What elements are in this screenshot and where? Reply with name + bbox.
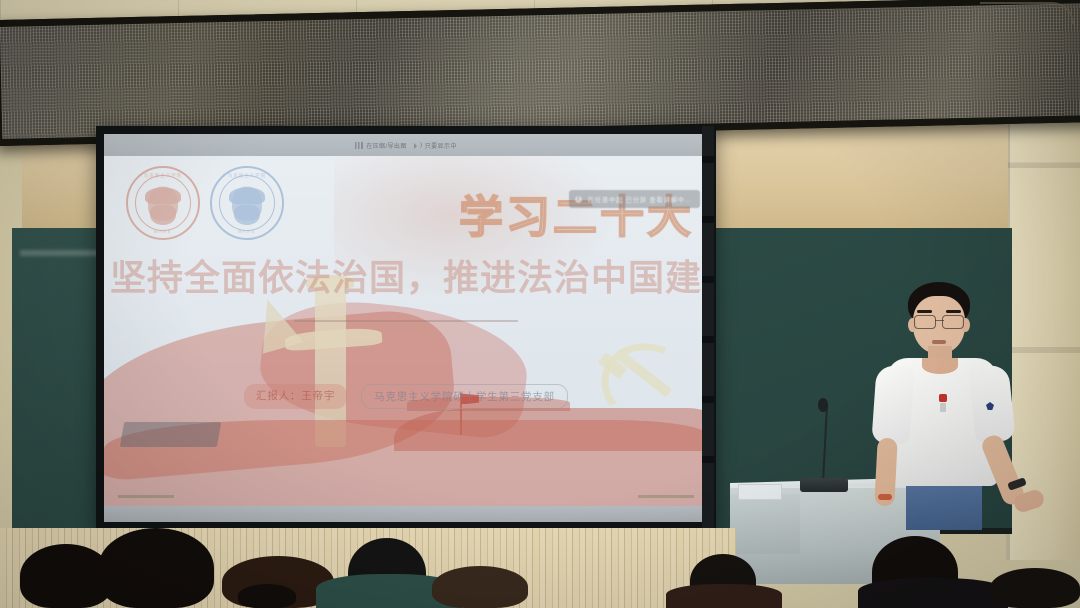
screen-rail-right	[702, 126, 714, 528]
seal-bottom-text: MARX	[238, 229, 256, 234]
organization-chip: 马克思主义学院硕士学生第三党支部	[361, 384, 568, 409]
audience-shoulder	[666, 584, 782, 608]
led-power-cable	[980, 2, 1074, 24]
seal-marx-red: 马克思主义学院 MARX	[126, 166, 200, 240]
seal-portrait-beard	[150, 205, 176, 225]
banner-board-silhouette	[120, 422, 221, 447]
presenter-brow-left	[917, 310, 932, 313]
seal-bottom-text: MARX	[154, 229, 172, 234]
screen-bottom-bar	[104, 506, 708, 522]
party-badge-icon	[938, 394, 948, 412]
seal-top-text: 马克思主义学院	[228, 173, 266, 179]
info-icon: i	[575, 196, 582, 203]
signal-icon	[355, 142, 363, 149]
desktop-equipment-box	[738, 484, 782, 500]
presenter-collar	[922, 358, 958, 374]
slide-credits: 汇报人：王帝宇 马克思主义学院硕士学生第三党支部	[104, 384, 708, 409]
classroom-photo: 在压缩/导出图 只要显示中	[0, 0, 1080, 608]
os-bar-right-label: 只要显示中	[425, 141, 457, 150]
presenter-chip: 汇报人：王帝宇	[244, 384, 347, 409]
projection-screen: 在压缩/导出图 只要显示中	[104, 134, 708, 522]
presenter-sleeve-left	[871, 365, 914, 445]
wrist-band	[878, 494, 892, 500]
audience-shoulder	[858, 578, 1008, 608]
led-banner-glare	[0, 3, 1080, 139]
tooltip-label: 在任意中起 已分屏 查看讲解中...	[588, 194, 692, 204]
lectern-side-panel	[730, 494, 800, 554]
institution-seals: 马克思主义学院 MARX 马克思主义学院 MARX	[126, 166, 284, 240]
glasses-icon	[913, 315, 965, 327]
presenter-mouth	[932, 340, 946, 344]
slide-subtitle: 坚持全面依法治国，推进法治中国建设	[110, 260, 708, 296]
os-bar-right-item: 只要显示中	[414, 141, 457, 150]
microphone-capsule	[818, 398, 828, 412]
os-bar-left-item: 在压缩/导出图	[355, 141, 406, 150]
projection-screen-frame: 在压缩/导出图 只要显示中	[96, 126, 716, 530]
slide-divider	[294, 320, 518, 322]
seal-marx-blue: 马克思主义学院 MARX	[210, 166, 284, 240]
projected-os-bar: 在压缩/导出图 只要显示中	[104, 134, 708, 156]
microphone-base	[800, 478, 848, 492]
student-presenter	[880, 282, 1048, 522]
seal-top-text: 马克思主义学院	[144, 173, 182, 179]
presenter-brow-right	[946, 310, 961, 313]
audience-head	[98, 528, 214, 608]
audience-head	[432, 566, 528, 608]
seal-portrait-beard	[234, 205, 260, 225]
powerpoint-slide: 马克思主义学院 MARX 马克思主义学院 MARX	[104, 156, 708, 506]
led-banner	[0, 0, 1080, 146]
audience-head	[238, 584, 296, 608]
speaker-icon	[414, 142, 422, 149]
presentation-tooltip[interactable]: i 在任意中起 已分屏 查看讲解中...	[569, 190, 700, 208]
os-bar-left-label: 在压缩/导出图	[366, 141, 406, 150]
audience-head	[990, 568, 1080, 608]
